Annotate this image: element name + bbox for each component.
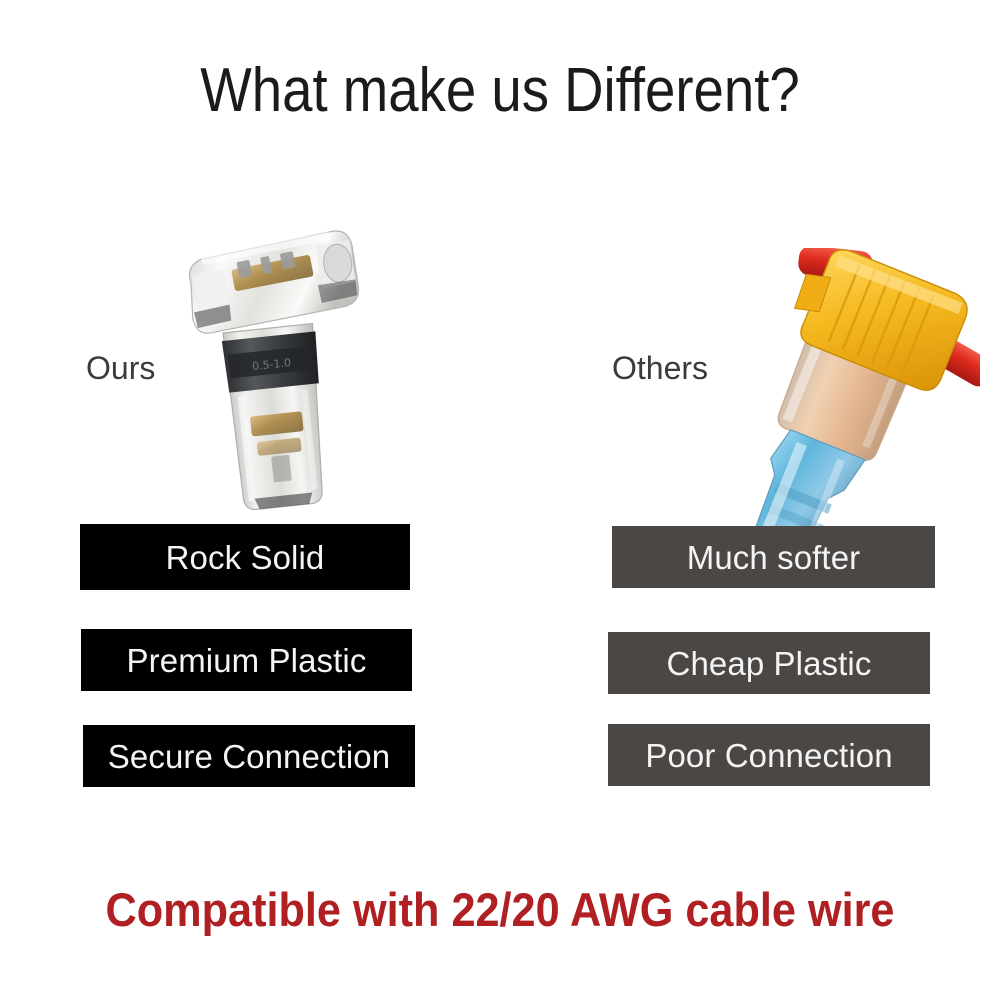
column-label-ours: Ours: [86, 350, 155, 386]
infographic-canvas: What make us Different? Ours: [0, 0, 1000, 1000]
page-title: What make us Different?: [60, 56, 940, 126]
badge-ours-1: Rock Solid: [80, 524, 410, 590]
badge-ours-1-label: Rock Solid: [166, 541, 325, 574]
badge-others-1: Much softer: [612, 526, 935, 588]
badge-others-1-label: Much softer: [687, 541, 861, 574]
badge-ours-3-label: Secure Connection: [108, 740, 390, 773]
badge-others-3: Poor Connection: [608, 724, 930, 786]
compatibility-note: Compatible with 22/20 AWG cable wire: [40, 882, 960, 938]
product-image-ours: 0.5-1.0: [168, 228, 378, 518]
badge-ours-3: Secure Connection: [83, 725, 415, 787]
badge-others-2: Cheap Plastic: [608, 632, 930, 694]
product-image-others: [690, 248, 980, 548]
badge-others-3-label: Poor Connection: [645, 739, 892, 772]
badge-others-2-label: Cheap Plastic: [667, 647, 872, 680]
badge-ours-2-label: Premium Plastic: [127, 644, 367, 677]
badge-ours-2: Premium Plastic: [81, 629, 412, 691]
